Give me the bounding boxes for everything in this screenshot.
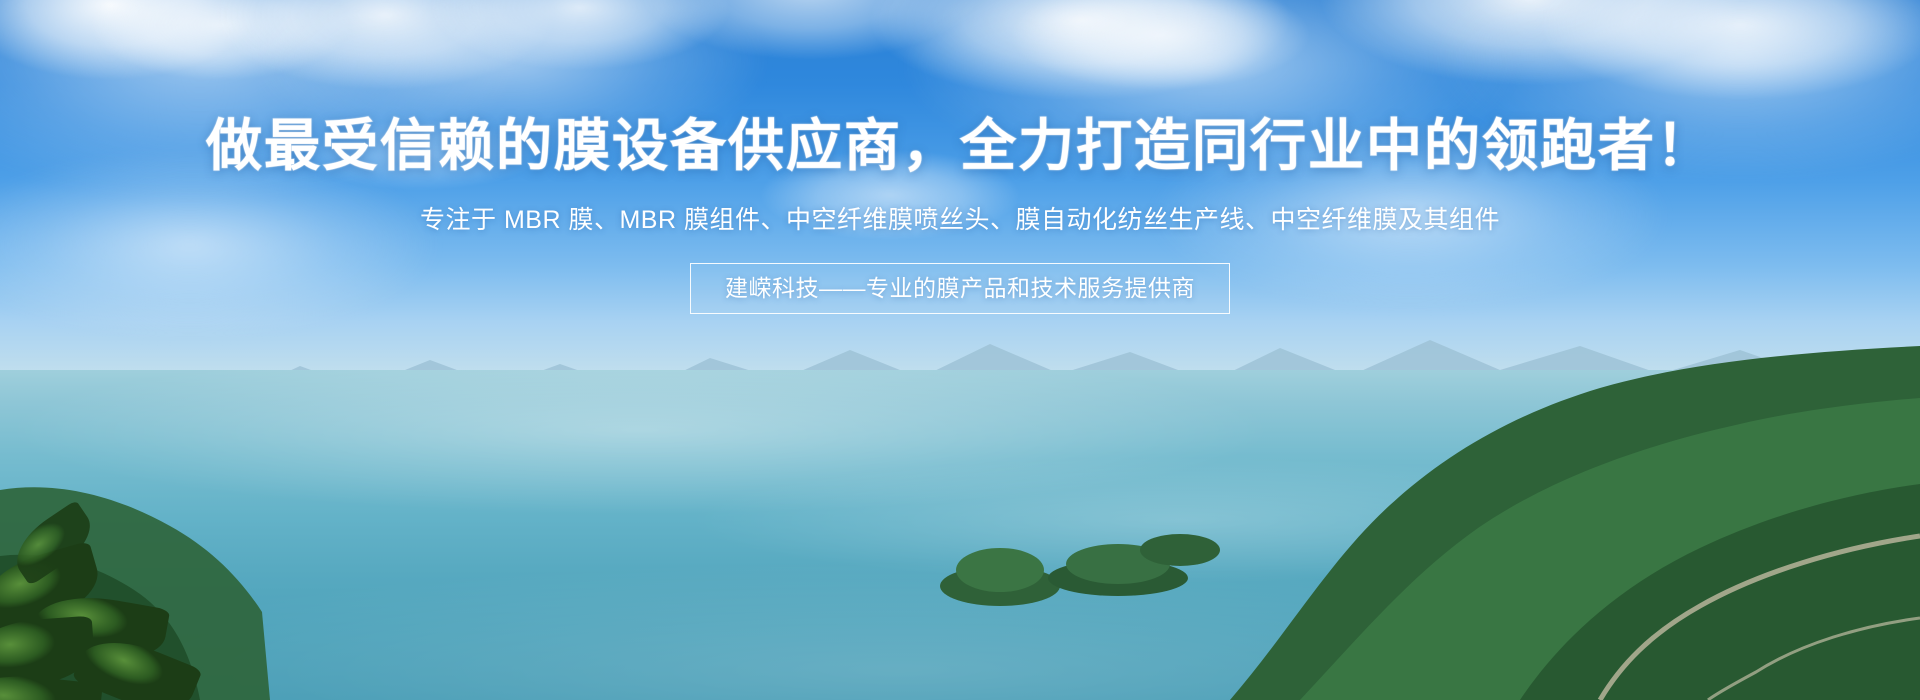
hero-banner: 做最受信赖的膜设备供应商，全力打造同行业中的领跑者！ 专注于 MBR 膜、MBR… bbox=[0, 0, 1920, 700]
lake-islands bbox=[0, 520, 1920, 630]
